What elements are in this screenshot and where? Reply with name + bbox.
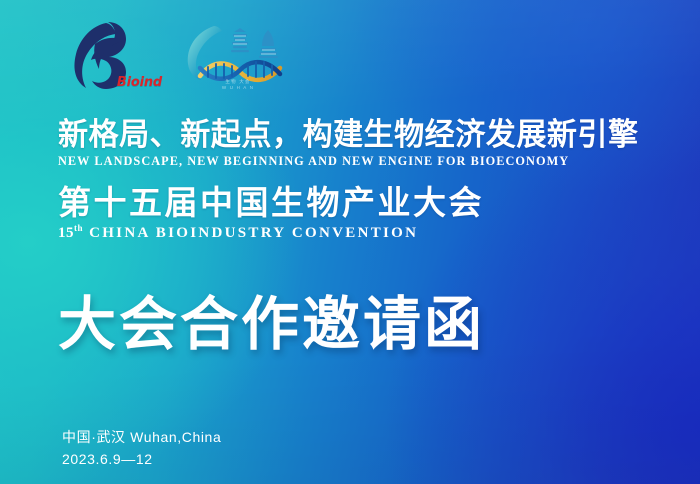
bioind-wordmark: Bioind bbox=[117, 75, 162, 90]
convention-logo-caption-en: W U H A N bbox=[222, 85, 254, 91]
convention-name-chinese: 第十五届中国生物产业大会 bbox=[58, 184, 658, 222]
convention-edition-number: 15 bbox=[58, 225, 74, 241]
slogan-block: 新格局、新起点，构建生物经济发展新引擎 NEW LANDSCAPE, NEW B… bbox=[58, 118, 658, 169]
footer-date: 2023.6.9—12 bbox=[62, 448, 221, 470]
convention-name-block: 第十五届中国生物产业大会 15th CHINA BIOINDUSTRY CONV… bbox=[58, 184, 658, 242]
slogan-chinese: 新格局、新起点，构建生物经济发展新引擎 bbox=[58, 118, 640, 152]
convention-logo: 生物 大会 W U H A N bbox=[184, 20, 292, 92]
footer-location: 中国·武汉 Wuhan,China bbox=[62, 426, 221, 448]
convention-logo-caption: 生物 大会 W U H A N bbox=[222, 79, 254, 91]
page-title: 大会合作邀请函 bbox=[58, 292, 485, 358]
conference-invitation-poster: Bioind bbox=[0, 0, 700, 484]
bioind-logo: Bioind bbox=[62, 20, 162, 92]
convention-name-english-rest: CHINA BIOINDUSTRY CONVENTION bbox=[89, 225, 418, 241]
footer-block: 中国·武汉 Wuhan,China 2023.6.9—12 bbox=[62, 426, 221, 470]
convention-name-english: 15th CHINA BIOINDUSTRY CONVENTION bbox=[58, 223, 658, 242]
convention-edition-ordinal: th bbox=[74, 223, 83, 233]
slogan-english: NEW LANDSCAPE, NEW BEGINNING AND NEW ENG… bbox=[58, 154, 649, 169]
logo-row: Bioind bbox=[62, 20, 292, 92]
